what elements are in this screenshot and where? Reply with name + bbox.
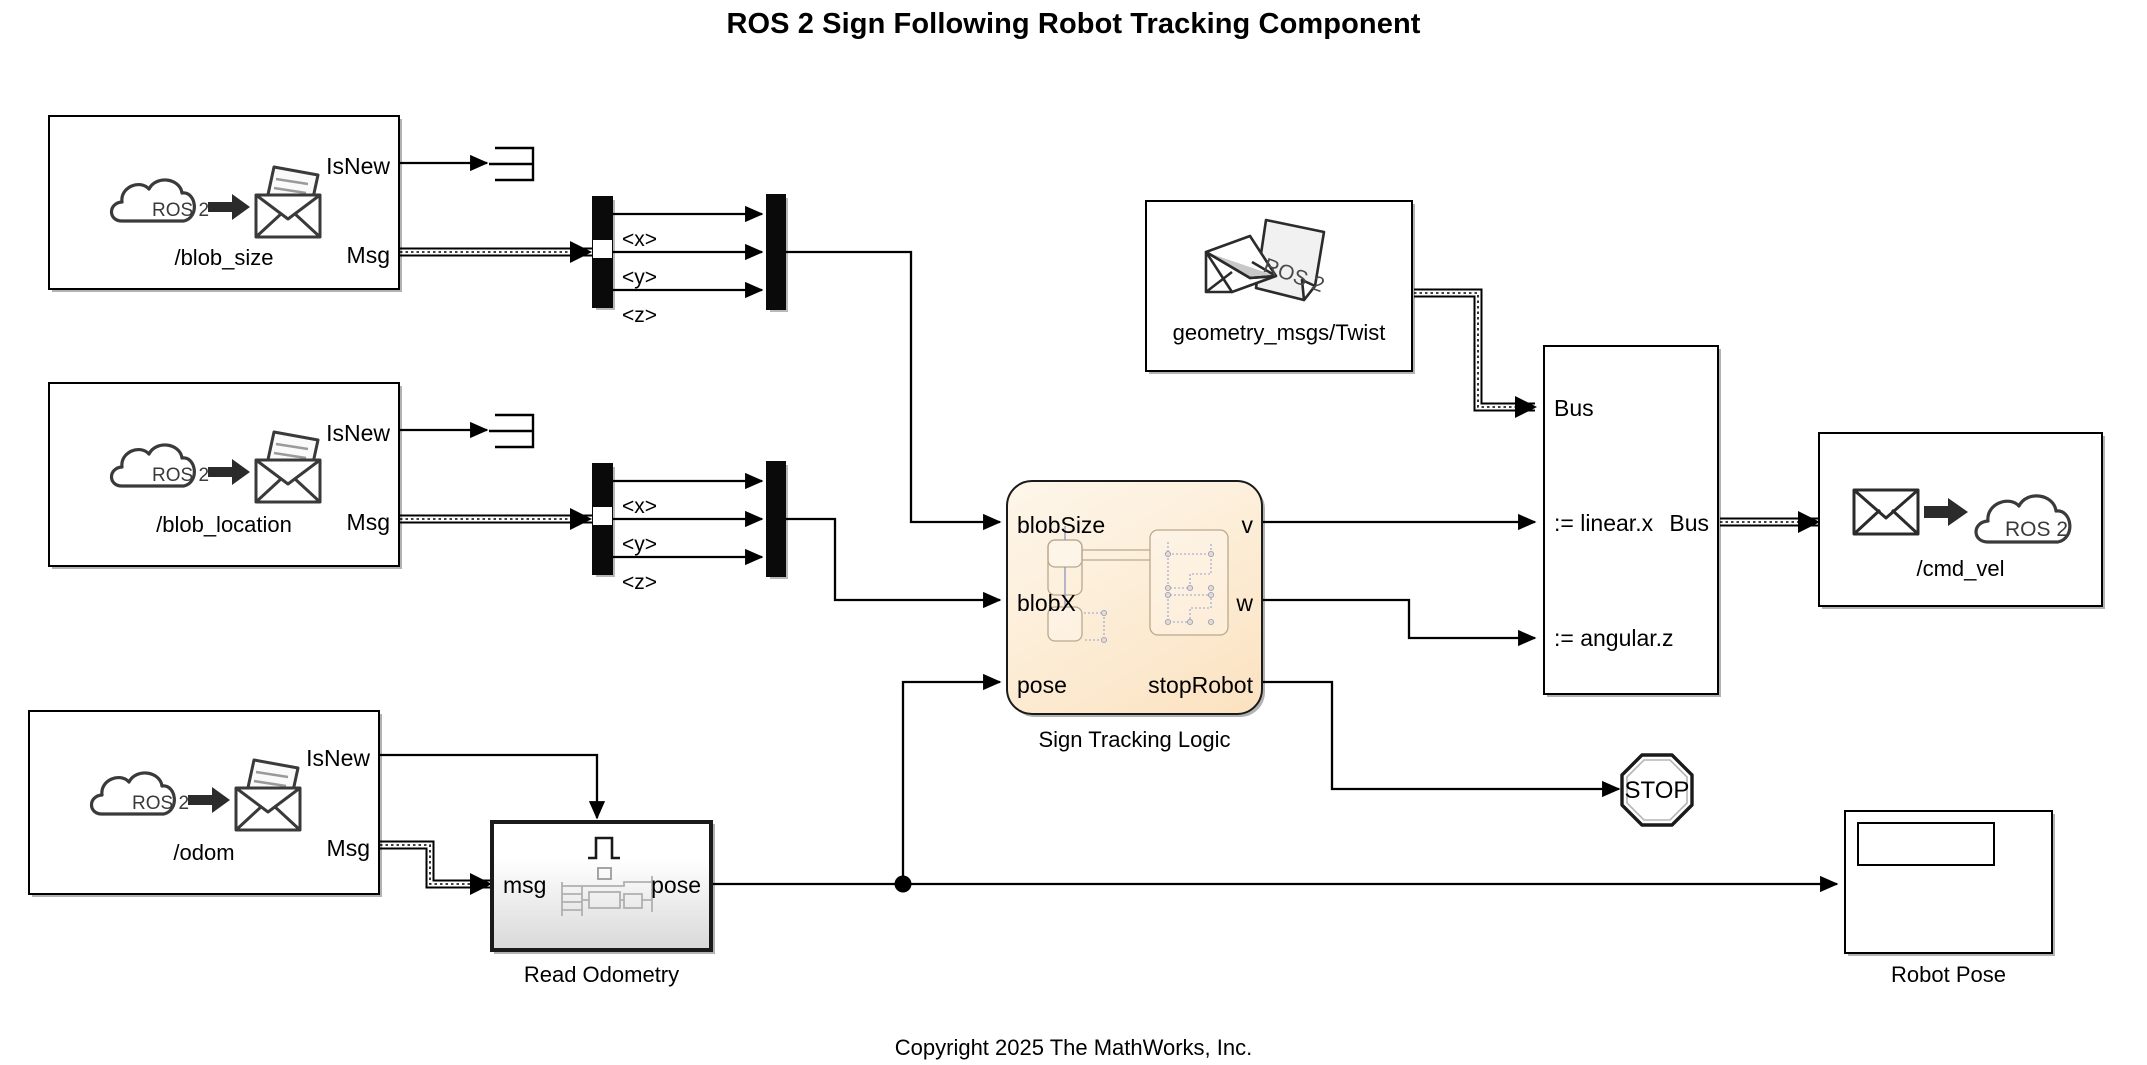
bus-selector-block-1[interactable] — [592, 196, 613, 308]
bus-selector-input-notch — [592, 239, 613, 259]
subsystem-output-pose: pose — [651, 872, 701, 899]
svg-text:ROS 2: ROS 2 — [2005, 518, 2068, 541]
subsystem-input-msg: msg — [503, 872, 546, 899]
bus-assignment-input-linear-x: := linear.x — [1554, 510, 1653, 537]
stateflow-chart-sign-tracking-logic[interactable]: blobSize blobX pose v w stopRobot — [1006, 480, 1263, 715]
output-port-isnew: IsNew — [326, 153, 390, 180]
subscriber-block-odom[interactable]: ROS 2 /odom IsNew Msg — [28, 710, 380, 895]
bus-assignment-input-angular-z: := angular.z — [1554, 625, 1674, 652]
copyright-text: Copyright 2025 The MathWorks, Inc. — [0, 1035, 2147, 1061]
stop-simulation-block[interactable]: STOP — [1619, 752, 1695, 833]
bus-assignment-input-bus: Bus — [1554, 395, 1594, 422]
bus-selector-block-2[interactable] — [592, 463, 613, 575]
subscriber-block-blob-size[interactable]: ROS 2 /blob_size IsNew Msg — [48, 115, 400, 290]
output-port-msg: Msg — [347, 509, 390, 536]
chart-output-w: w — [1236, 590, 1253, 617]
chart-label: Sign Tracking Logic — [1006, 727, 1263, 753]
mux-block-2[interactable] — [766, 461, 786, 577]
bus-signal-label-x: <x> — [622, 495, 657, 519]
terminator-icon-2[interactable] — [489, 407, 541, 460]
output-port-isnew: IsNew — [306, 745, 370, 772]
ros2-publish-icon: ROS 2 — [1820, 472, 2101, 552]
blank-message-block[interactable]: ROS 2 geometry_msgs/Twist — [1145, 200, 1413, 372]
simulink-canvas: ROS 2 Sign Following Robot Tracking Comp… — [0, 0, 2147, 1065]
terminator-icon-1[interactable] — [489, 140, 541, 193]
block-label: geometry_msgs/Twist — [1147, 320, 1411, 346]
chart-input-pose: pose — [1017, 672, 1067, 699]
bus-assignment-output-bus: Bus — [1669, 510, 1709, 537]
svg-text:ROS 2: ROS 2 — [152, 465, 209, 486]
svg-text:ROS 2: ROS 2 — [132, 793, 189, 814]
subsystem-block-read-odometry[interactable]: msg pose — [490, 820, 713, 952]
bus-signal-label-z: <z> — [622, 304, 657, 328]
bus-signal-label-y: <y> — [622, 533, 657, 557]
mux-block-1[interactable] — [766, 194, 786, 310]
block-label: /cmd_vel — [1820, 556, 2101, 582]
bus-selector-input-notch — [592, 506, 613, 526]
chart-output-v: v — [1242, 512, 1254, 539]
bus-signal-label-z: <z> — [622, 571, 657, 595]
page-title: ROS 2 Sign Following Robot Tracking Comp… — [0, 8, 2147, 41]
svg-text:STOP: STOP — [1625, 777, 1690, 804]
bus-assignment-block[interactable]: Bus := linear.x := angular.z Bus — [1543, 345, 1719, 695]
bus-signal-label-y: <y> — [622, 266, 657, 290]
output-port-isnew: IsNew — [326, 420, 390, 447]
output-port-msg: Msg — [347, 242, 390, 269]
chart-output-stoprobot: stopRobot — [1148, 672, 1253, 699]
ros2-blank-message-icon: ROS 2 — [1147, 216, 1411, 314]
chart-input-blobx: blobX — [1017, 590, 1076, 617]
subscriber-block-blob-location[interactable]: ROS 2 /blob_location IsNew Msg — [48, 382, 400, 567]
output-port-msg: Msg — [327, 835, 370, 862]
publisher-block-cmd-vel[interactable]: ROS 2 /cmd_vel — [1818, 432, 2103, 607]
display-block-robot-pose[interactable] — [1844, 810, 2053, 954]
display-label: Robot Pose — [1844, 962, 2053, 988]
bus-signal-label-x: <x> — [622, 228, 657, 252]
chart-input-blobsize: blobSize — [1017, 512, 1105, 539]
display-value-field — [1857, 822, 1995, 866]
subsystem-label: Read Odometry — [490, 962, 713, 988]
svg-text:ROS 2: ROS 2 — [152, 200, 209, 221]
